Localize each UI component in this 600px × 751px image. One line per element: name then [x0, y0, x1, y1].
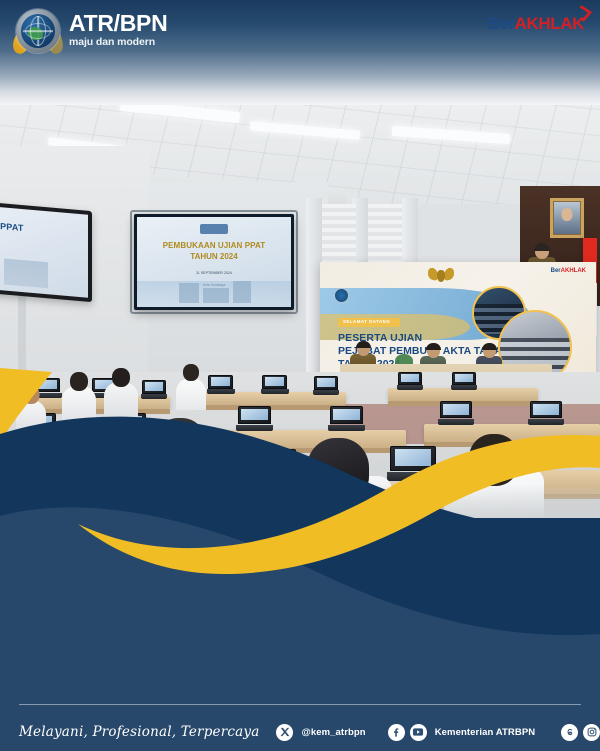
facebook-icon[interactable] [388, 724, 405, 741]
laptop [262, 375, 287, 394]
monitor-text-line1: AN PPAT [0, 220, 24, 233]
laptop [208, 375, 233, 394]
official-portrait [550, 198, 584, 238]
social-group-meta[interactable]: Kementerian ATRBPN [388, 724, 536, 741]
attendee [176, 364, 206, 410]
page-footer: Melayani, Profesional, Terpercaya @kem_a… [0, 714, 600, 750]
social-group-other[interactable]: @kementerian.atrbpn [561, 724, 600, 741]
berakhlak-logo: BerAKHLAK [487, 14, 584, 34]
laptop [398, 372, 422, 390]
event-photo: AN PPAT 24 M.H. PEMBUKAAN UJIAN PPAT TAH… [0, 86, 600, 518]
youtube-icon[interactable] [410, 724, 427, 741]
wall-monitor: AN PPAT 24 M.H. [0, 201, 92, 302]
attendee [16, 386, 46, 430]
laptop [330, 406, 363, 431]
attendee [62, 372, 96, 420]
laptop [452, 372, 476, 390]
poster-canvas: AN PPAT 24 M.H. PEMBUKAAN UJIAN PPAT TAH… [0, 0, 600, 751]
laptop [530, 401, 562, 425]
backdrop-welcome-tag: SELAMAT DATANG [343, 319, 390, 324]
meta-handle: Kementerian ATRBPN [435, 727, 536, 738]
instagram-icon[interactable] [583, 724, 600, 741]
brand-lockup[interactable]: ATR/BPN maju dan modern [16, 9, 167, 53]
backdrop-berakhlak: BerAKHLAK [551, 268, 586, 274]
social-group-x[interactable]: @kem_atrbpn [276, 724, 365, 741]
berakhlak-prefix: Ber [487, 14, 514, 33]
attendee [104, 368, 138, 418]
laptop [440, 401, 472, 425]
x-handle: @kem_atrbpn [301, 727, 365, 738]
laptop [142, 380, 166, 399]
brand-name: ATR/BPN [69, 12, 167, 35]
page-header: ATR/BPN maju dan modern BerAKHLAK [0, 0, 600, 105]
atrbpn-emblem-icon [334, 288, 349, 303]
footer-tagline: Melayani, Profesional, Terpercaya [19, 724, 259, 740]
garuda-emblem-icon [428, 266, 454, 282]
laptop [390, 446, 436, 481]
threads-icon[interactable] [561, 724, 578, 741]
laptop [238, 406, 271, 431]
x-twitter-icon[interactable] [276, 724, 293, 741]
laptop [314, 376, 338, 395]
brand-tagline: maju dan modern [69, 37, 167, 48]
footer-divider [19, 704, 581, 705]
berakhlak-suffix: AKHLAK [515, 14, 584, 33]
atrbpn-globe-emblem-icon [16, 9, 60, 53]
